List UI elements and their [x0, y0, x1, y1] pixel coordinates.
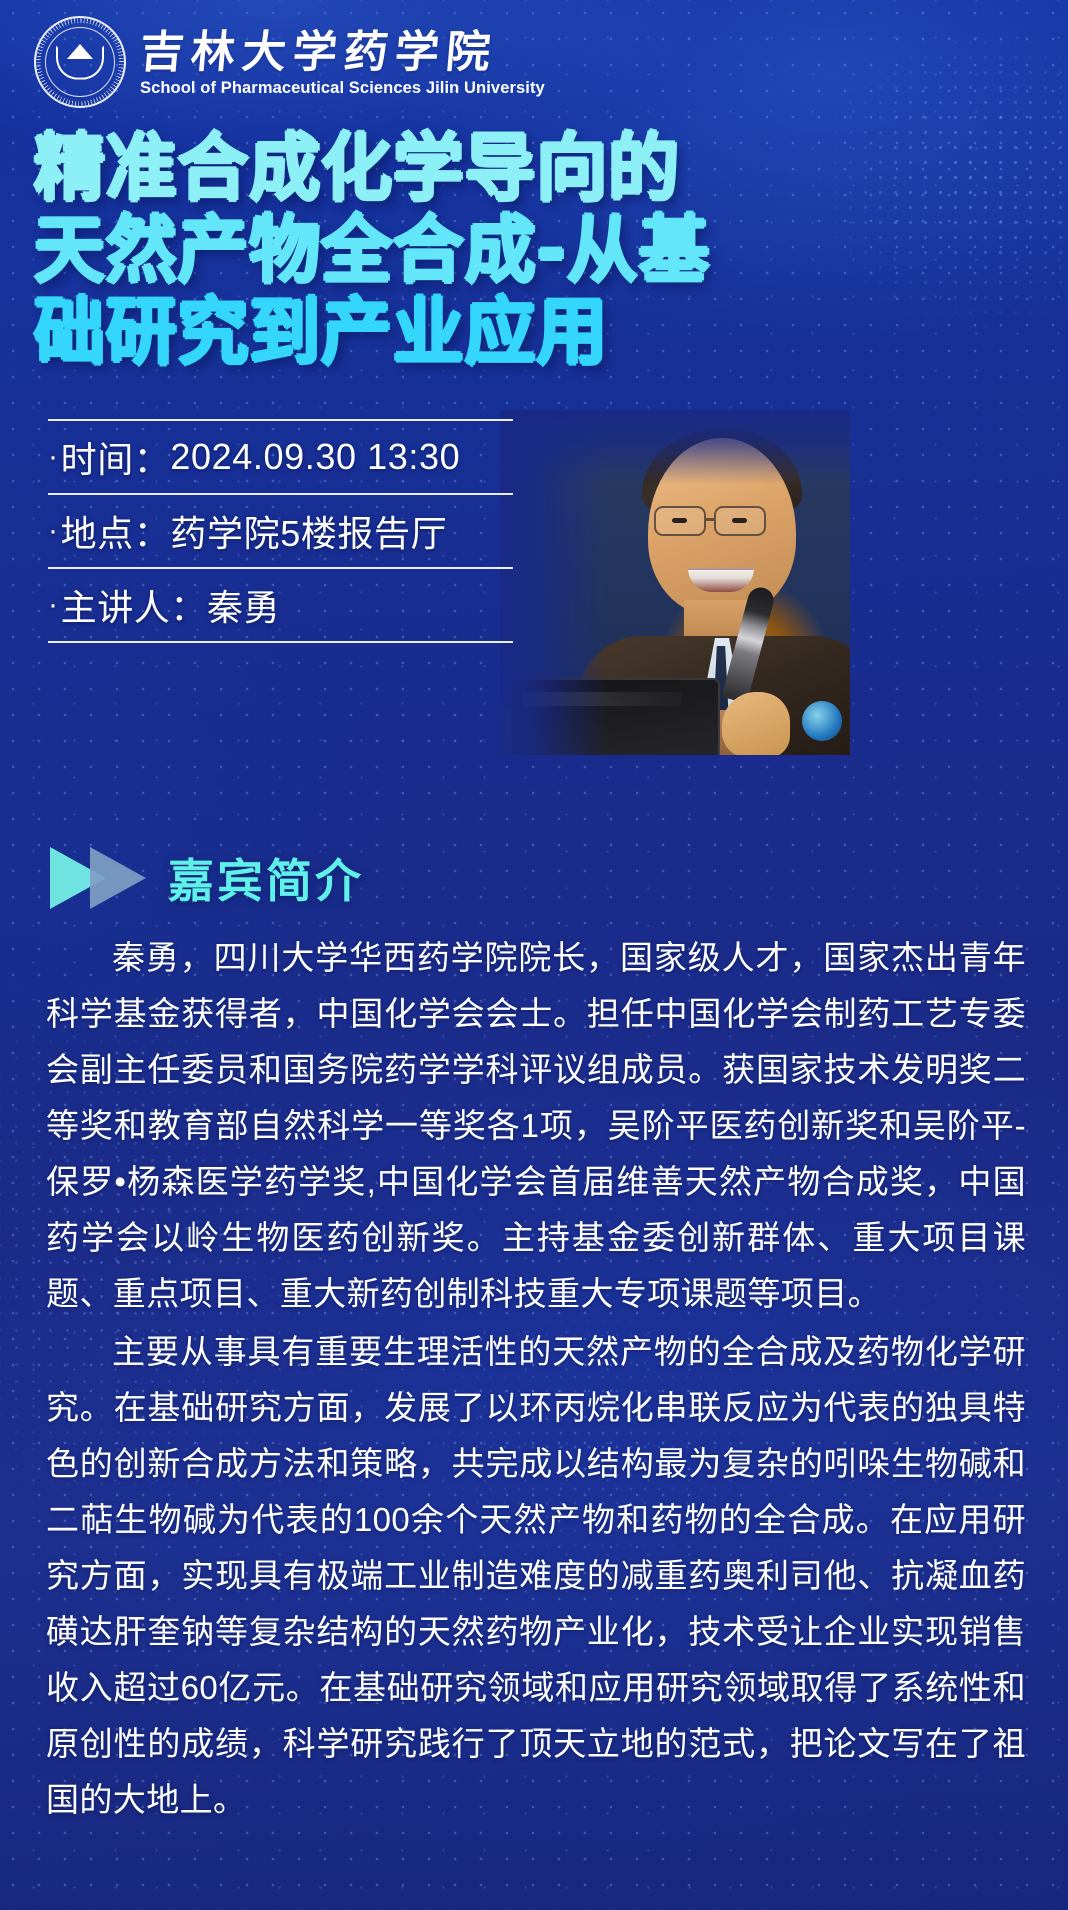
stage-emblem	[802, 701, 842, 741]
glasses-bridge	[706, 518, 714, 521]
title-line-1: 精准合成化学导向的	[34, 128, 1004, 210]
double-play-triangle-icon	[50, 847, 146, 909]
speaker-hand	[722, 692, 790, 755]
bullet-icon: ·	[48, 590, 59, 620]
photo-fade-left	[500, 410, 608, 755]
page-title: 精准合成化学导向的 天然产物全合成-从基 础研究到产业应用	[34, 128, 1034, 373]
speaker-eye-left	[672, 518, 687, 523]
play-triangle-back	[90, 847, 146, 909]
crest-peak-shape	[67, 44, 93, 59]
poster-header: 吉林大学药学院 School of Pharmaceutical Science…	[34, 16, 545, 108]
info-value-speaker: 秦勇	[207, 579, 280, 631]
university-crest-icon	[34, 16, 126, 108]
event-info-block: · 时间： 2024.09.30 13:30 · 地点： 药学院5楼报告厅 · …	[48, 419, 513, 643]
bullet-icon: ·	[48, 516, 59, 546]
info-row-speaker: · 主讲人： 秦勇	[48, 569, 513, 641]
bullet-icon: ·	[48, 442, 59, 472]
info-label-location: 地点：	[61, 505, 171, 557]
section-title: 嘉宾简介	[168, 845, 364, 911]
info-row-time: · 时间： 2024.09.30 13:30	[48, 421, 513, 493]
divider-bottom	[48, 641, 513, 643]
info-value-time: 2024.09.30 13:30	[170, 436, 460, 478]
org-name-en: School of Pharmaceutical Sciences Jilin …	[140, 79, 545, 98]
org-name-cn: 吉林大学药学院	[138, 30, 547, 77]
crest-ring-text	[36, 18, 124, 106]
guest-bio-body: 秦勇，四川大学华西药学院院长，国家级人才，国家杰出青年科学基金获得者，中国化学会…	[46, 930, 1026, 1830]
title-line-2: 天然产物全合成-从基	[34, 210, 1004, 292]
info-value-location: 药学院5楼报告厅	[170, 505, 447, 557]
info-label-time: 时间：	[61, 431, 171, 483]
bio-paragraph-1: 秦勇，四川大学华西药学院院长，国家级人才，国家杰出青年科学基金获得者，中国化学会…	[46, 930, 1026, 1322]
speaker-eye-right	[732, 518, 747, 523]
organization-name-block: 吉林大学药学院 School of Pharmaceutical Science…	[140, 26, 545, 99]
speaker-photo	[500, 410, 850, 755]
bio-paragraph-2: 主要从事具有重要生理活性的天然产物的全合成及药物化学研究。在基础研究方面，发展了…	[46, 1324, 1026, 1828]
seminar-poster: 吉林大学药学院 School of Pharmaceutical Science…	[0, 0, 1068, 1910]
guest-intro-heading: 嘉宾简介	[50, 845, 364, 911]
info-row-location: · 地点： 药学院5楼报告厅	[48, 495, 513, 567]
title-line-3: 础研究到产业应用	[34, 292, 1004, 374]
info-label-speaker: 主讲人：	[61, 579, 207, 631]
